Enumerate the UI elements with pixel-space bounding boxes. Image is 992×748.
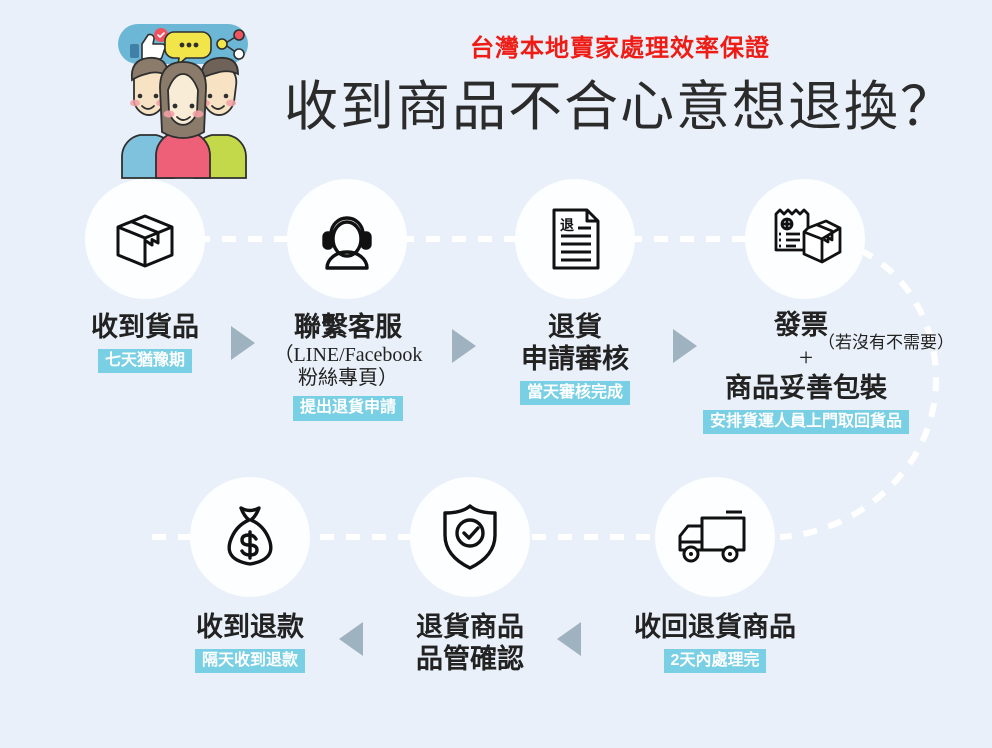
step-1-node[interactable] bbox=[85, 179, 205, 299]
arrow-step6-to-step7 bbox=[339, 622, 363, 656]
step-3-badge: 當天審核完成 bbox=[520, 381, 630, 406]
header-subtitle: 台灣本地賣家處理效率保證 bbox=[290, 28, 950, 63]
step-7-badge: 隔天收到退款 bbox=[195, 649, 305, 674]
page-title: 收到商品不合心意想退換？ bbox=[270, 62, 970, 141]
step-3-label-line2: 申請審核 bbox=[485, 344, 665, 376]
delivery-truck-icon bbox=[655, 477, 775, 597]
receipt-and-box-icon bbox=[745, 179, 865, 299]
step-3-node[interactable]: 退 bbox=[515, 179, 635, 299]
step-7-labels: 收到退款 隔天收到退款 bbox=[160, 612, 340, 673]
money-bag-icon bbox=[190, 477, 310, 597]
step-5-badge: 2天內處理完 bbox=[664, 649, 767, 674]
step-1-label: 收到貨品 bbox=[45, 312, 245, 344]
step-6-node[interactable] bbox=[410, 477, 530, 597]
step-4-node[interactable] bbox=[745, 179, 865, 299]
step-1-badge: 七天猶豫期 bbox=[98, 349, 192, 374]
step-2-label: 聯繫客服 bbox=[252, 312, 444, 344]
step-2-node[interactable] bbox=[287, 179, 407, 299]
step-7-node[interactable] bbox=[190, 477, 310, 597]
step-5-labels: 收回退貨商品 2天內處理完 bbox=[605, 612, 825, 673]
step-4-note: （若沒有不需要） bbox=[818, 328, 954, 353]
customer-service-headset-icon bbox=[287, 179, 407, 299]
people-group bbox=[122, 58, 246, 178]
arrow-step2-to-step3 bbox=[452, 329, 476, 363]
step-3-label: 退貨 bbox=[485, 312, 665, 344]
step-6-labels: 退貨商品 品管確認 bbox=[380, 612, 560, 676]
step-4-badge: 安排貨運人員上門取回貨品 bbox=[703, 410, 909, 435]
step-3-labels: 退貨 申請審核 當天審核完成 bbox=[485, 312, 665, 405]
step-2-label-line2: （LINE/Facebook bbox=[252, 344, 444, 368]
step-2-badge: 提出退貨申請 bbox=[293, 396, 403, 421]
step-5-node[interactable] bbox=[655, 477, 775, 597]
step-2-labels: 聯繫客服 （LINE/Facebook 粉絲專頁） 提出退貨申請 bbox=[252, 312, 444, 421]
infographic-canvas: 台灣本地賣家處理效率保證 收到商品不合心意想退換？ 收到貨品 七天猶豫期 bbox=[0, 0, 992, 748]
svg-text:退: 退 bbox=[560, 217, 574, 233]
step-4-labels: 發票 （若沒有不需要） + 商品妥善包裝 安排貨運人員上門取回貨品 bbox=[690, 310, 922, 434]
return-document-icon: 退 bbox=[515, 179, 635, 299]
step-7-label: 收到退款 bbox=[160, 612, 340, 644]
social-community-illustration bbox=[104, 18, 262, 180]
step-6-label: 退貨商品 bbox=[380, 612, 560, 644]
step-4-label-line2: 商品妥善包裝 bbox=[690, 373, 922, 405]
step-6-label-line2: 品管確認 bbox=[380, 644, 560, 676]
package-box-icon bbox=[85, 179, 205, 299]
step-5-label: 收回退貨商品 bbox=[605, 612, 825, 644]
shield-check-icon bbox=[410, 477, 530, 597]
arrow-step5-to-step6 bbox=[557, 622, 581, 656]
step-2-label-line3: 粉絲專頁） bbox=[252, 367, 444, 391]
step-1-labels: 收到貨品 七天猶豫期 bbox=[45, 312, 245, 373]
